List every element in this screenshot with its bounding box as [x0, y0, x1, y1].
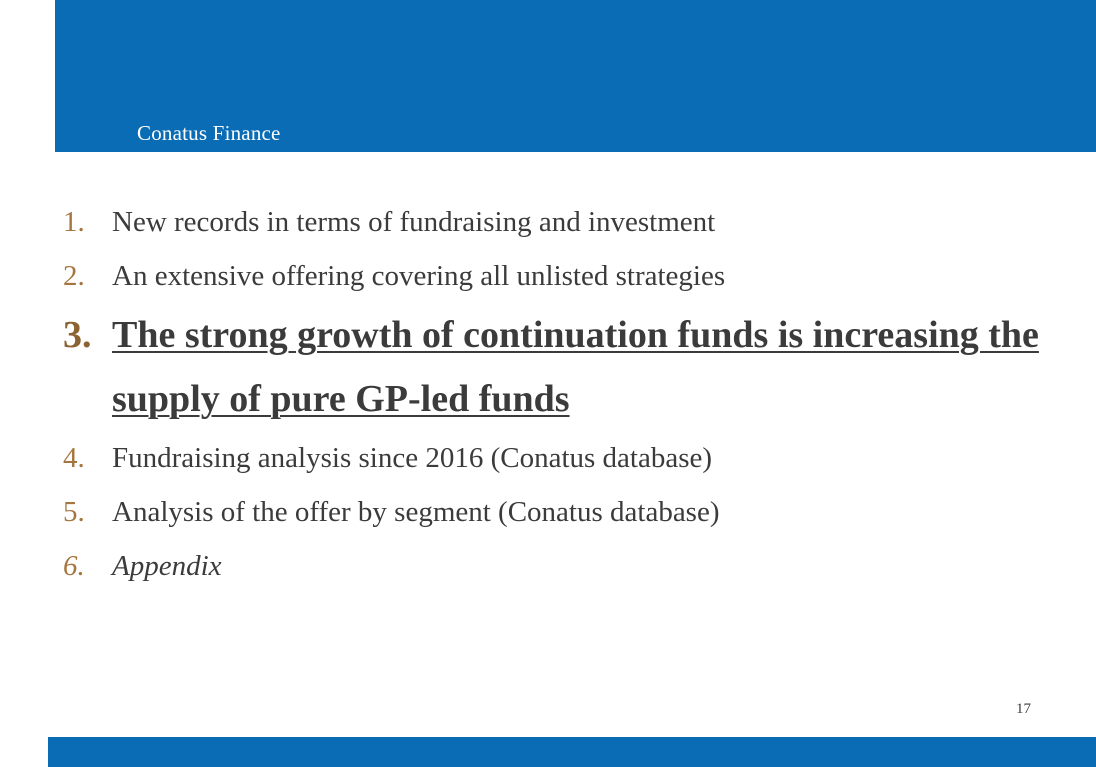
agenda-item-5[interactable]: 5. Analysis of the offer by segment (Con…: [55, 485, 1065, 539]
agenda-item-1[interactable]: 1. New records in terms of fundraising a…: [55, 195, 1065, 249]
slide: Conatus Finance 1. New records in terms …: [0, 0, 1096, 767]
agenda-item-6[interactable]: 6. Appendix: [55, 539, 1065, 593]
agenda-item-5-label: Analysis of the offer by segment (Conatu…: [112, 485, 1065, 539]
header-band: Conatus Finance: [55, 0, 1096, 152]
agenda-item-1-label: New records in terms of fundraising and …: [112, 195, 1065, 249]
agenda-item-6-number: 6.: [55, 539, 112, 593]
agenda-item-2[interactable]: 2. An extensive offering covering all un…: [55, 249, 1065, 303]
agenda-item-3[interactable]: 3. The strong growth of continuation fun…: [55, 303, 1065, 431]
agenda-item-3-label: The strong growth of continuation funds …: [112, 303, 1065, 431]
agenda-item-2-label: An extensive offering covering all unlis…: [112, 249, 1065, 303]
agenda-list: 1. New records in terms of fundraising a…: [55, 195, 1065, 593]
agenda-item-4[interactable]: 4. Fundraising analysis since 2016 (Cona…: [55, 431, 1065, 485]
footer-band: [48, 737, 1096, 767]
agenda-item-1-number: 1.: [55, 195, 112, 249]
brand-title: Conatus Finance: [137, 120, 281, 146]
agenda-item-6-label: Appendix: [112, 539, 1065, 593]
agenda-item-2-number: 2.: [55, 249, 112, 303]
agenda-item-5-number: 5.: [55, 485, 112, 539]
agenda-item-4-label: Fundraising analysis since 2016 (Conatus…: [112, 431, 1065, 485]
agenda-item-3-number: 3.: [55, 303, 112, 367]
agenda-item-4-number: 4.: [55, 431, 112, 485]
page-number: 17: [1016, 700, 1031, 718]
